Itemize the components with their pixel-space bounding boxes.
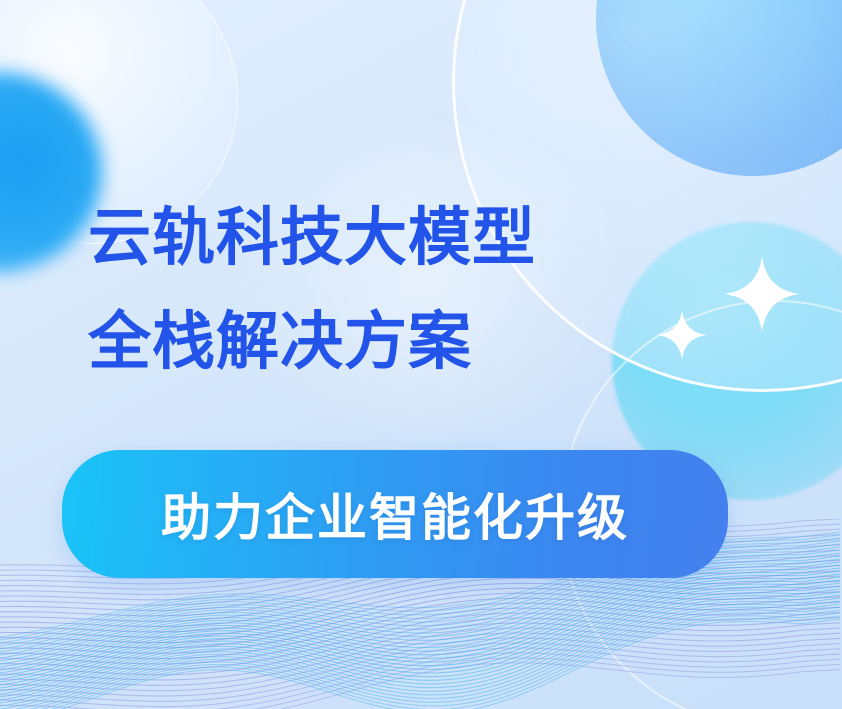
poster-canvas: 云轨科技大模型 全栈解决方案 助力企业智能化升级	[0, 0, 842, 709]
headline-line-2: 全栈解决方案	[88, 290, 536, 394]
headline: 云轨科技大模型 全栈解决方案	[88, 186, 536, 394]
tagline-badge-label: 助力企业智能化升级	[161, 478, 629, 550]
sparkle-small-icon	[657, 310, 707, 360]
sparkle-large-icon	[724, 256, 800, 332]
headline-line-1: 云轨科技大模型	[88, 186, 536, 290]
tagline-badge: 助力企业智能化升级	[62, 450, 728, 578]
